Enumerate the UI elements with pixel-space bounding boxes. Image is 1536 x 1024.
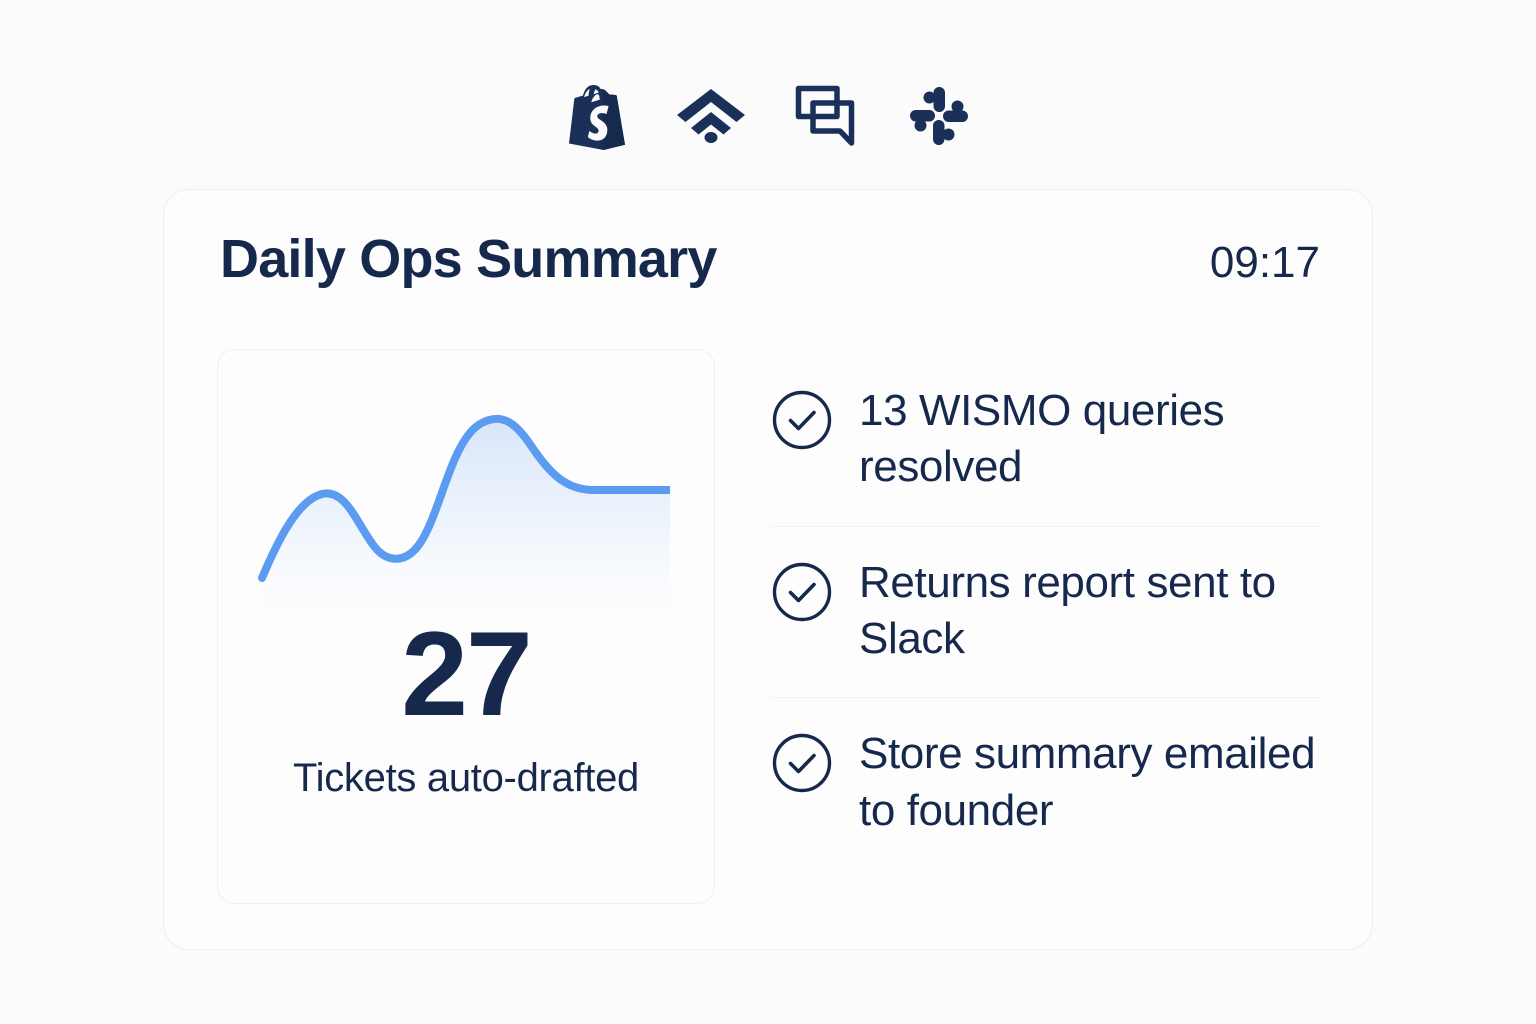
shopify-logo-icon[interactable] (561, 80, 633, 152)
checklist: 13 WISMO queries resolved Returns report… (771, 349, 1320, 904)
list-item-label: Returns report sent to Slack (859, 555, 1320, 668)
check-circle-icon (771, 732, 833, 794)
check-circle-icon (771, 389, 833, 451)
metric-label: Tickets auto-drafted (218, 756, 714, 800)
sparkline-chart (218, 350, 670, 610)
check-circle-icon (771, 561, 833, 623)
list-item-label: Store summary emailed to founder (859, 726, 1320, 839)
chat-window-icon[interactable] (789, 80, 861, 152)
card-header: Daily Ops Summary 09:17 (220, 232, 1320, 304)
metric-panel: 27 Tickets auto-drafted (217, 349, 715, 904)
integration-icon-strip (0, 76, 1536, 156)
timestamp: 09:17 (1210, 241, 1320, 285)
slack-logo-icon[interactable] (903, 80, 975, 152)
card-body: 27 Tickets auto-drafted 13 WISMO queries… (217, 349, 1320, 904)
daily-ops-summary-card: Daily Ops Summary 09:17 (163, 189, 1373, 950)
metric-value: 27 (218, 614, 714, 734)
list-item[interactable]: Store summary emailed to founder (771, 697, 1320, 869)
wifi-signal-icon[interactable] (675, 80, 747, 152)
metric-figures: 27 Tickets auto-drafted (218, 614, 714, 800)
page-title: Daily Ops Summary (220, 232, 717, 286)
list-item-label: 13 WISMO queries resolved (859, 383, 1320, 496)
list-item[interactable]: Returns report sent to Slack (771, 526, 1320, 698)
list-item[interactable]: 13 WISMO queries resolved (771, 355, 1320, 526)
